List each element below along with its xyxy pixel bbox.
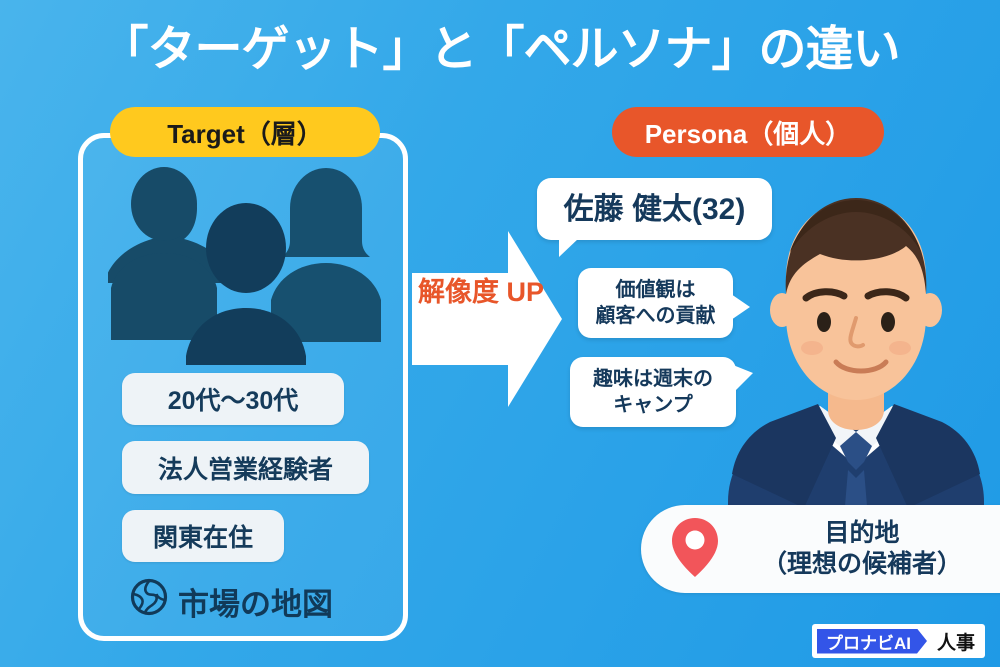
market-map-label: 市場の地図 [178, 579, 333, 624]
target-chip: 20代〜30代 [122, 373, 344, 425]
brand-suffix: 人事 [937, 628, 975, 655]
globe-map-icon [130, 578, 168, 624]
brand-name: プロナビAI [817, 629, 927, 654]
three-people-silhouette-icon [108, 160, 384, 365]
target-chip: 法人営業経験者 [122, 441, 369, 494]
destination-panel: 目的地 （理想の候補者） [641, 505, 1000, 593]
target-chip: 関東在住 [122, 510, 284, 562]
destination-label: 目的地 （理想の候補者） [719, 518, 1000, 581]
persona-name-bubble: 佐藤 健太(32) [537, 178, 772, 240]
persona-badge: Persona（個人） [612, 107, 884, 157]
persona-hobby-bubble: 趣味は週末の キャンプ [570, 357, 736, 427]
page-title: 「ターゲット」と「ペルソナ」の違い [0, 22, 1000, 77]
target-badge: Target（層） [110, 107, 380, 157]
right-arrow-icon [412, 229, 562, 409]
brand-logo: プロナビAI 人事 [812, 624, 985, 658]
arrow-label: 解像度 UP [418, 275, 528, 311]
map-pin-icon [671, 516, 719, 583]
infographic-canvas: 「ターゲット」と「ペルソナ」の違い Target（層） [0, 0, 1000, 667]
market-map-footer: 市場の地図 [130, 578, 333, 624]
persona-value-bubble: 価値観は 顧客への貢献 [578, 268, 733, 338]
